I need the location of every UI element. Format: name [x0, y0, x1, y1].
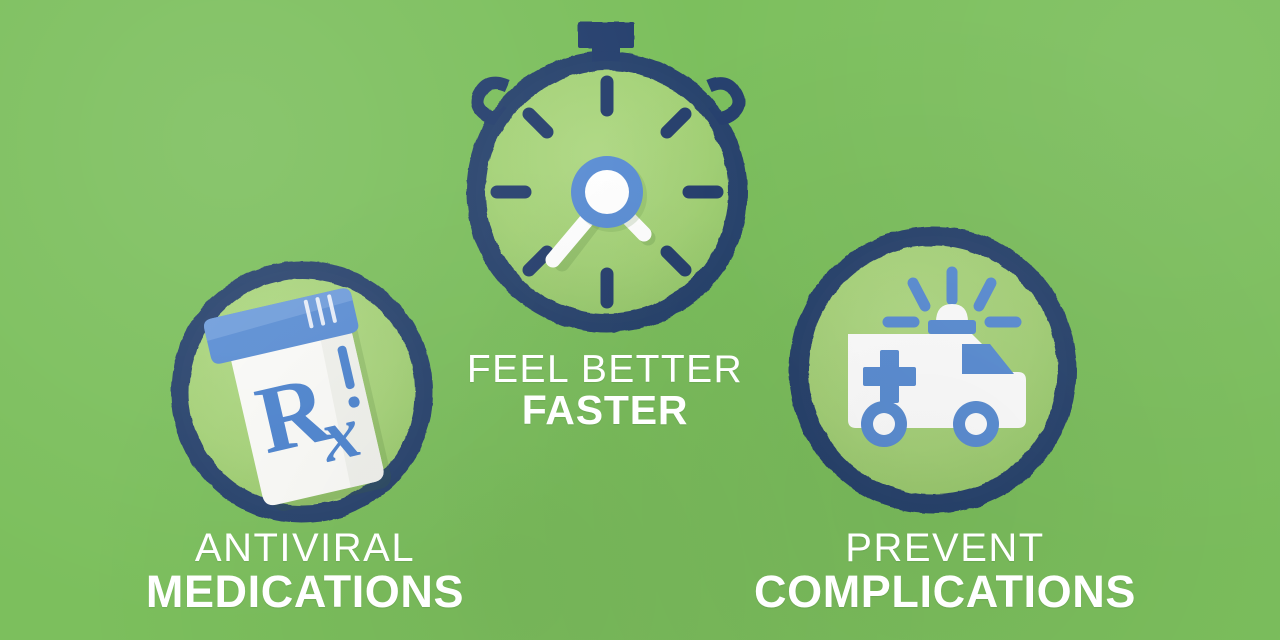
caption-line-top: PREVENT: [735, 528, 1155, 569]
infographic-canvas: R x: [0, 0, 1280, 640]
stopwatch-icon: [476, 22, 739, 323]
caption-line-top: ANTIVIRAL: [110, 528, 500, 569]
caption-feel-better-faster: FEEL BETTER FASTER: [455, 350, 755, 432]
badge-prevent-complications: [799, 236, 1067, 504]
caption-line-bottom: FASTER: [455, 390, 755, 432]
caption-prevent-complications: PREVENT COMPLICATIONS: [735, 528, 1155, 615]
caption-line-bottom: COMPLICATIONS: [735, 569, 1155, 615]
badge-antiviral-medications: R x: [180, 270, 424, 519]
stopwatch-hub-inner: [585, 170, 629, 214]
caption-line-bottom: MEDICATIONS: [110, 569, 500, 615]
caption-line-top: FEEL BETTER: [455, 350, 755, 390]
caption-antiviral-medications: ANTIVIRAL MEDICATIONS: [110, 528, 500, 615]
